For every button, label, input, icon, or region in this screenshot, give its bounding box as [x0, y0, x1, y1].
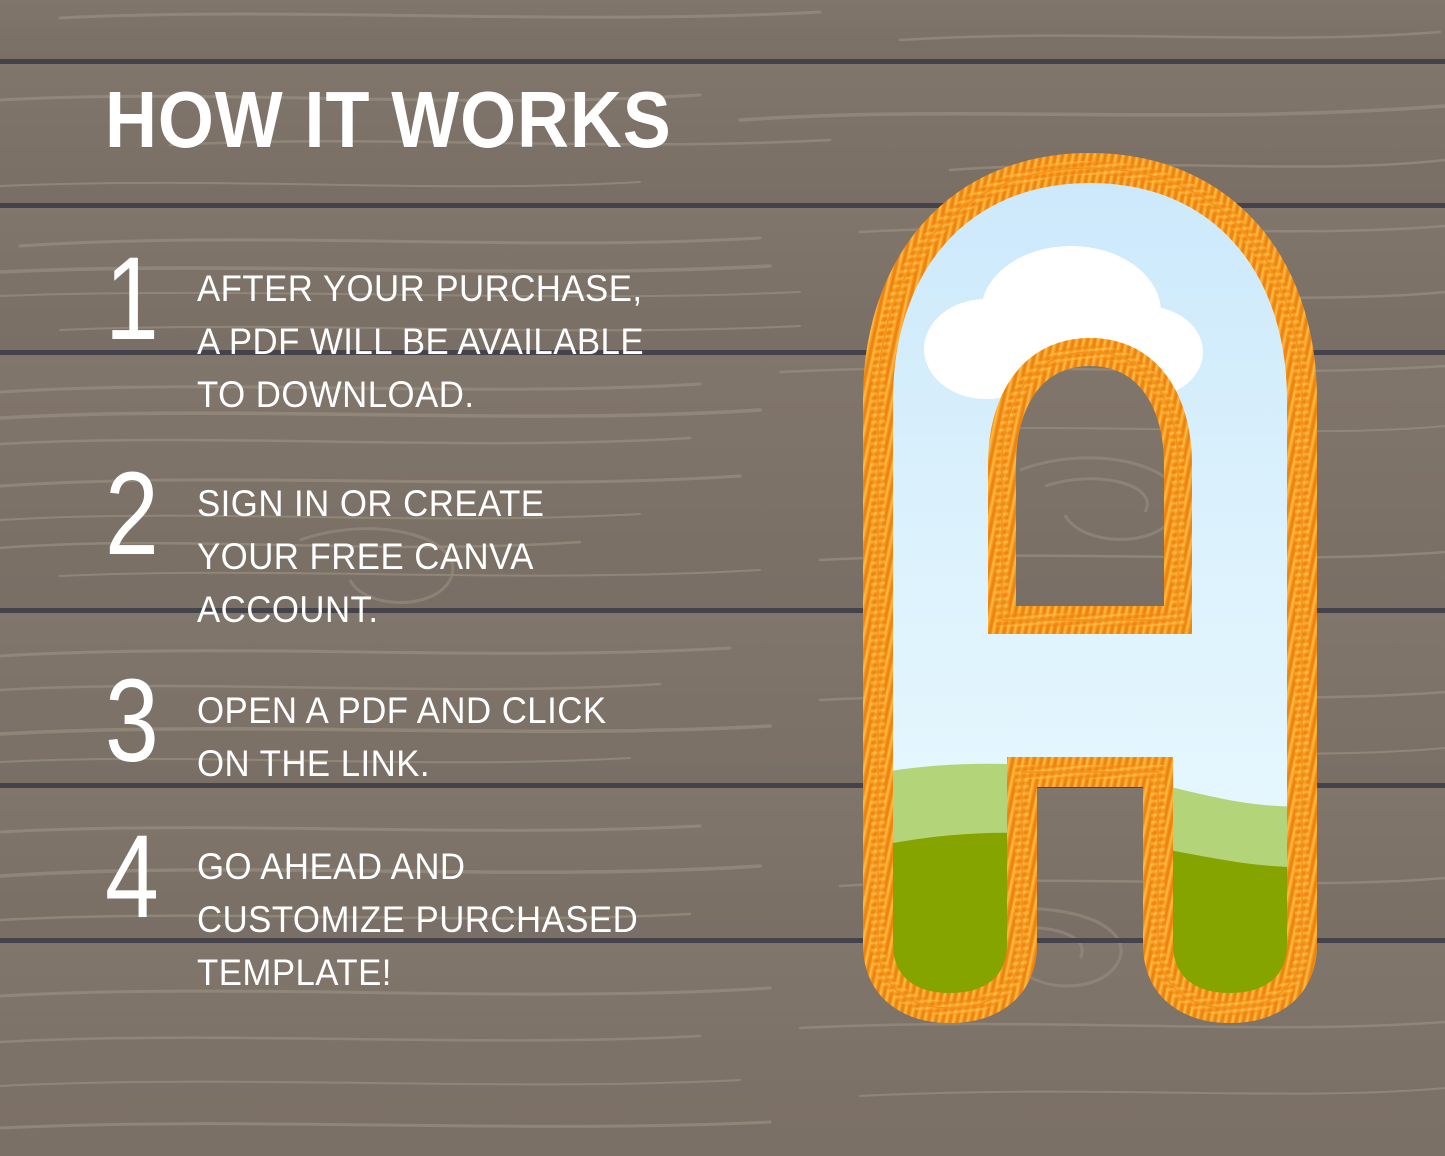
page-title: HOW IT WORKS [105, 78, 672, 162]
text-column: HOW IT WORKS 1 AFTER YOUR PURCHASE, A PD… [0, 0, 800, 1156]
embroidered-letter-a-icon [790, 152, 1390, 1022]
step-item-4: 4 GO AHEAD AND CUSTOMIZE PURCHASED TEMPL… [105, 836, 765, 999]
steps-list: 1 AFTER YOUR PURCHASE, A PDF WILL BE AVA… [105, 258, 765, 999]
letter-a-artwork [790, 152, 1390, 1022]
step-number-4: 4 [105, 822, 180, 932]
step-text-4: GO AHEAD AND CUSTOMIZE PURCHASED TEMPLAT… [197, 836, 731, 999]
step-item-1: 1 AFTER YOUR PURCHASE, A PDF WILL BE AVA… [105, 258, 765, 421]
step-item-3: 3 OPEN A PDF AND CLICK ON THE LINK. [105, 680, 765, 790]
step-text-2: SIGN IN OR CREATE YOUR FREE CANVA ACCOUN… [197, 473, 731, 636]
poster-canvas: HOW IT WORKS 1 AFTER YOUR PURCHASE, A PD… [0, 0, 1445, 1156]
step-text-1: AFTER YOUR PURCHASE, A PDF WILL BE AVAIL… [197, 258, 731, 421]
step-item-2: 2 SIGN IN OR CREATE YOUR FREE CANVA ACCO… [105, 473, 765, 636]
step-number-3: 3 [105, 666, 180, 776]
step-number-2: 2 [105, 459, 180, 569]
step-number-1: 1 [105, 244, 180, 354]
step-text-3: OPEN A PDF AND CLICK ON THE LINK. [197, 680, 731, 790]
